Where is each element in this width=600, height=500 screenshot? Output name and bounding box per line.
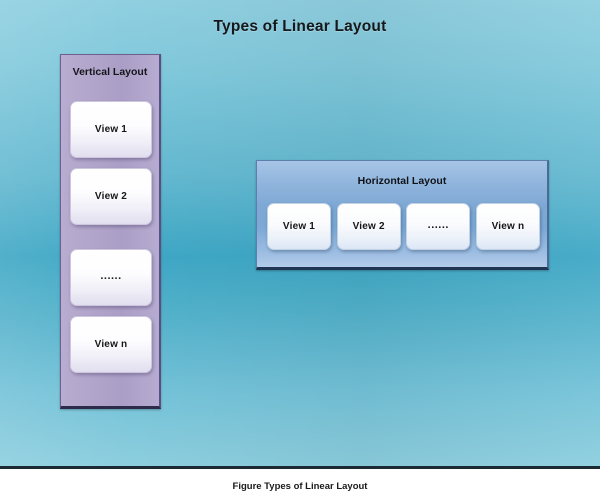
horizontal-view-label-n: View n [492, 221, 525, 232]
vertical-view-box-2[interactable]: View 2 [70, 168, 152, 225]
horizontal-layout-panel: Horizontal Layout View 1 View 2 ...... V… [256, 160, 549, 270]
vertical-view-label-2: View 2 [95, 191, 127, 202]
vertical-view-box-n[interactable]: View n [70, 316, 152, 373]
vertical-layout-panel: Vertical Layout View 1 View 2 ...... Vie… [60, 54, 161, 409]
horizontal-layout-title: Horizontal Layout [257, 175, 547, 187]
horizontal-view-box-ellipsis[interactable]: ...... [406, 203, 470, 250]
vertical-view-label-ellipsis: ...... [100, 273, 121, 283]
vertical-view-label-n: View n [95, 339, 128, 350]
vertical-layout-title: Vertical Layout [61, 66, 159, 78]
horizontal-view-box-n[interactable]: View n [476, 203, 540, 250]
horizontal-view-label-ellipsis: ...... [428, 222, 449, 232]
figure-root: Types of Linear Layout Vertical Layout V… [0, 0, 600, 500]
vertical-view-label-1: View 1 [95, 124, 127, 135]
vertical-view-box-ellipsis[interactable]: ...... [70, 249, 152, 306]
horizontal-view-box-2[interactable]: View 2 [337, 203, 401, 250]
page-title: Types of Linear Layout [0, 18, 600, 36]
vertical-view-stack: View 1 View 2 ...... View n [70, 101, 152, 373]
horizontal-view-box-1[interactable]: View 1 [267, 203, 331, 250]
vertical-view-box-1[interactable]: View 1 [70, 101, 152, 158]
horizontal-view-row: View 1 View 2 ...... View n [267, 203, 540, 250]
horizontal-view-label-1: View 1 [283, 221, 315, 232]
horizontal-view-label-2: View 2 [353, 221, 385, 232]
figure-caption: Figure Types of Linear Layout [0, 481, 600, 492]
